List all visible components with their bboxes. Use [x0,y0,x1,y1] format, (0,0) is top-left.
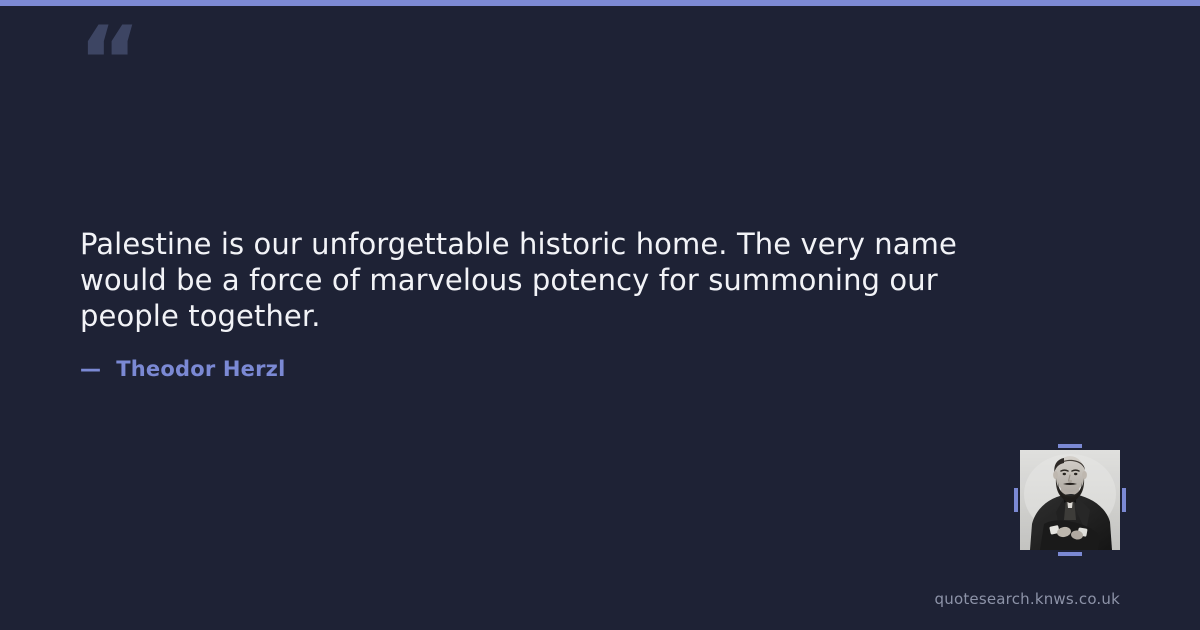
portrait-tick-bottom [1058,552,1082,556]
portrait-tick-top [1058,444,1082,448]
portrait-tick-right [1122,488,1126,512]
portrait-tick-left [1014,488,1018,512]
quote-card: “ Palestine is our unforgettable histori… [0,0,1200,630]
open-quote-icon: “ [78,14,139,110]
top-accent-bar [0,0,1200,6]
author-portrait [1020,450,1120,550]
source-url: quotesearch.knws.co.uk [935,590,1120,608]
quote-attribution: — Theodor Herzl [80,357,286,381]
author-portrait-image [1020,450,1120,550]
quote-text: Palestine is our unforgettable historic … [80,226,960,334]
